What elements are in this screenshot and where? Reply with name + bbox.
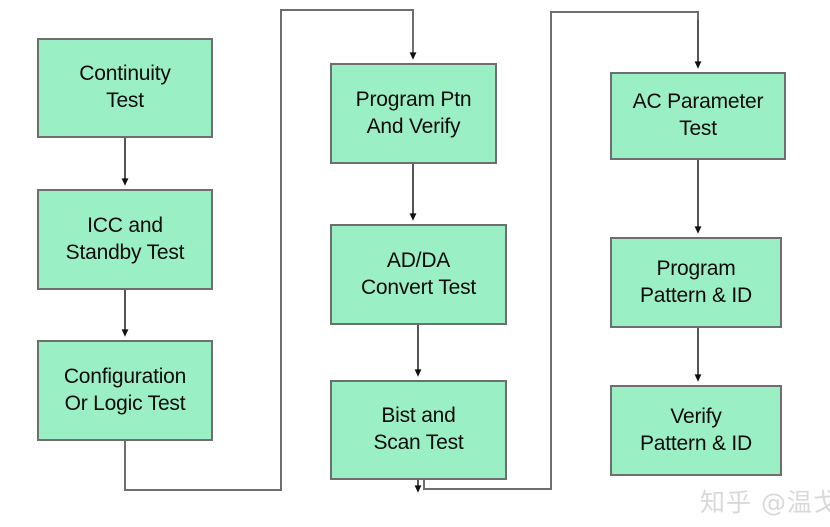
node-ac-parameter-test[interactable]: AC Parameter Test [610, 72, 786, 160]
node-line: Pattern & ID [640, 283, 752, 310]
node-program-ptn-and-verify[interactable]: Program Ptn And Verify [330, 63, 497, 164]
node-line: ICC and [87, 213, 163, 240]
node-line: Convert Test [361, 275, 476, 302]
node-program-pattern-and-id[interactable]: Program Pattern & ID [610, 237, 782, 328]
node-line: Pattern & ID [640, 431, 752, 458]
node-line: Test [679, 116, 717, 143]
node-line: Continuity [79, 61, 170, 88]
node-line: Program [656, 256, 735, 283]
node-continuity-test[interactable]: Continuity Test [37, 38, 213, 138]
node-ad-da-convert-test[interactable]: AD/DA Convert Test [330, 224, 507, 325]
node-line: Program Ptn [356, 87, 472, 114]
node-line: Standby Test [66, 240, 185, 267]
node-line: Configuration [64, 364, 186, 391]
node-line: Or Logic Test [65, 391, 186, 418]
node-line: AD/DA [387, 248, 450, 275]
node-line: Verify [670, 404, 721, 431]
node-configuration-or-logic-test[interactable]: Configuration Or Logic Test [37, 340, 213, 441]
node-line: And Verify [367, 114, 461, 141]
node-icc-and-standby-test[interactable]: ICC and Standby Test [37, 189, 213, 290]
node-bist-and-scan-test[interactable]: Bist and Scan Test [330, 380, 507, 480]
node-line: AC Parameter [633, 89, 764, 116]
node-line: Scan Test [373, 430, 463, 457]
node-line: Test [106, 88, 144, 115]
watermark: 知乎 @温戈 [700, 483, 830, 519]
flowchart-canvas: Continuity Test ICC and Standby Test Con… [0, 0, 830, 527]
node-line: Bist and [381, 403, 455, 430]
node-verify-pattern-and-id[interactable]: Verify Pattern & ID [610, 385, 782, 476]
